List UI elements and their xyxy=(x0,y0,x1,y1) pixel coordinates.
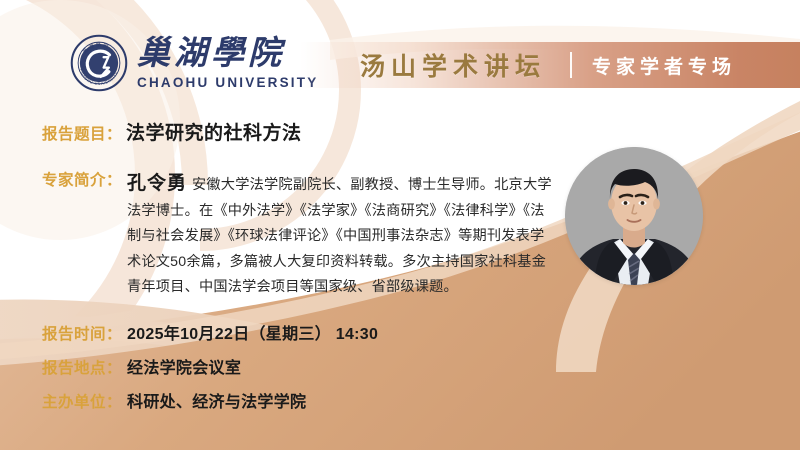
field-place-row: 报告地点： 经法学院会议室 xyxy=(42,354,241,378)
bio-text: 安徽大学法学院副院长、副教授、博士生导师。北京大学法学博士。在《中外法学》《法学… xyxy=(127,177,552,295)
title-value: 法学研究的社科方法 xyxy=(126,118,302,145)
time-label: 报告时间： xyxy=(42,322,122,344)
field-bio-row: 专家简介： 孔令勇安徽大学法学院副院长、副教授、博士生导师。北京大学法学博士。在… xyxy=(42,168,557,301)
host-label: 主办单位： xyxy=(42,390,122,412)
bio-label: 专家简介： xyxy=(42,168,122,190)
bio-body: 孔令勇安徽大学法学院副院长、副教授、博士生导师。北京大学法学博士。在《中外法学》… xyxy=(127,168,557,301)
title-label: 报告题目： xyxy=(42,122,122,144)
host-value: 科研处、经济与法学学院 xyxy=(127,388,306,412)
place-value: 经法学院会议室 xyxy=(127,354,241,378)
field-host-row: 主办单位： 科研处、经济与法学学院 xyxy=(42,388,306,412)
field-time-row: 报告时间： 2025年10月22日（星期三） 14:30 xyxy=(42,320,378,344)
time-value: 2025年10月22日（星期三） 14:30 xyxy=(127,320,378,344)
place-label: 报告地点： xyxy=(42,356,122,378)
field-title-row: 报告题目： 法学研究的社科方法 xyxy=(42,118,302,145)
speaker-portrait xyxy=(565,147,703,285)
seminar-poster: 巢 湖 學 院 CHAOHU UNIVERSITY 巢湖學院 CHAOHU UN… xyxy=(0,0,800,450)
speaker-name: 孔令勇 xyxy=(127,173,187,194)
